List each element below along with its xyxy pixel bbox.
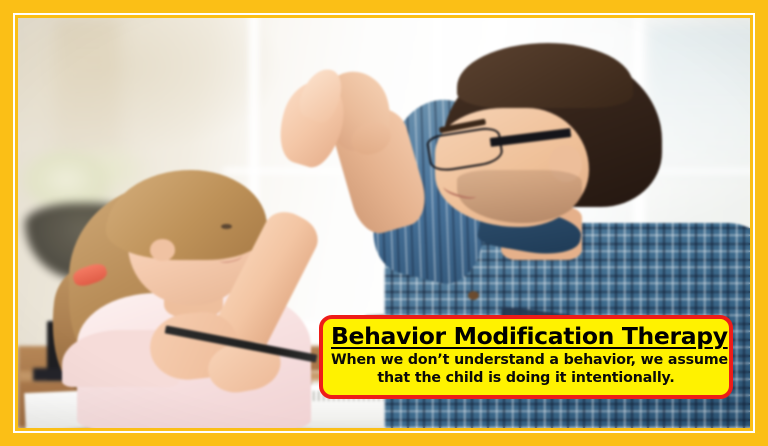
window-pane-tint: [648, 26, 750, 190]
frame-inner-gold-line: Behavior Modification Therapy When we do…: [15, 15, 753, 431]
caption-subtitle-line-1: When we don’t understand a behavior, we …: [331, 352, 721, 370]
girl-ear: [150, 239, 175, 260]
caption-subtitle-line-2: that the child is doing it intentionally…: [331, 370, 721, 388]
caption-card: Behavior Modification Therapy When we do…: [319, 315, 733, 399]
man-shirt-button: [468, 291, 479, 300]
poster-frame: Behavior Modification Therapy When we do…: [0, 0, 768, 446]
caption-title: Behavior Modification Therapy: [331, 323, 721, 349]
frame-white-gap: Behavior Modification Therapy When we do…: [13, 13, 755, 433]
